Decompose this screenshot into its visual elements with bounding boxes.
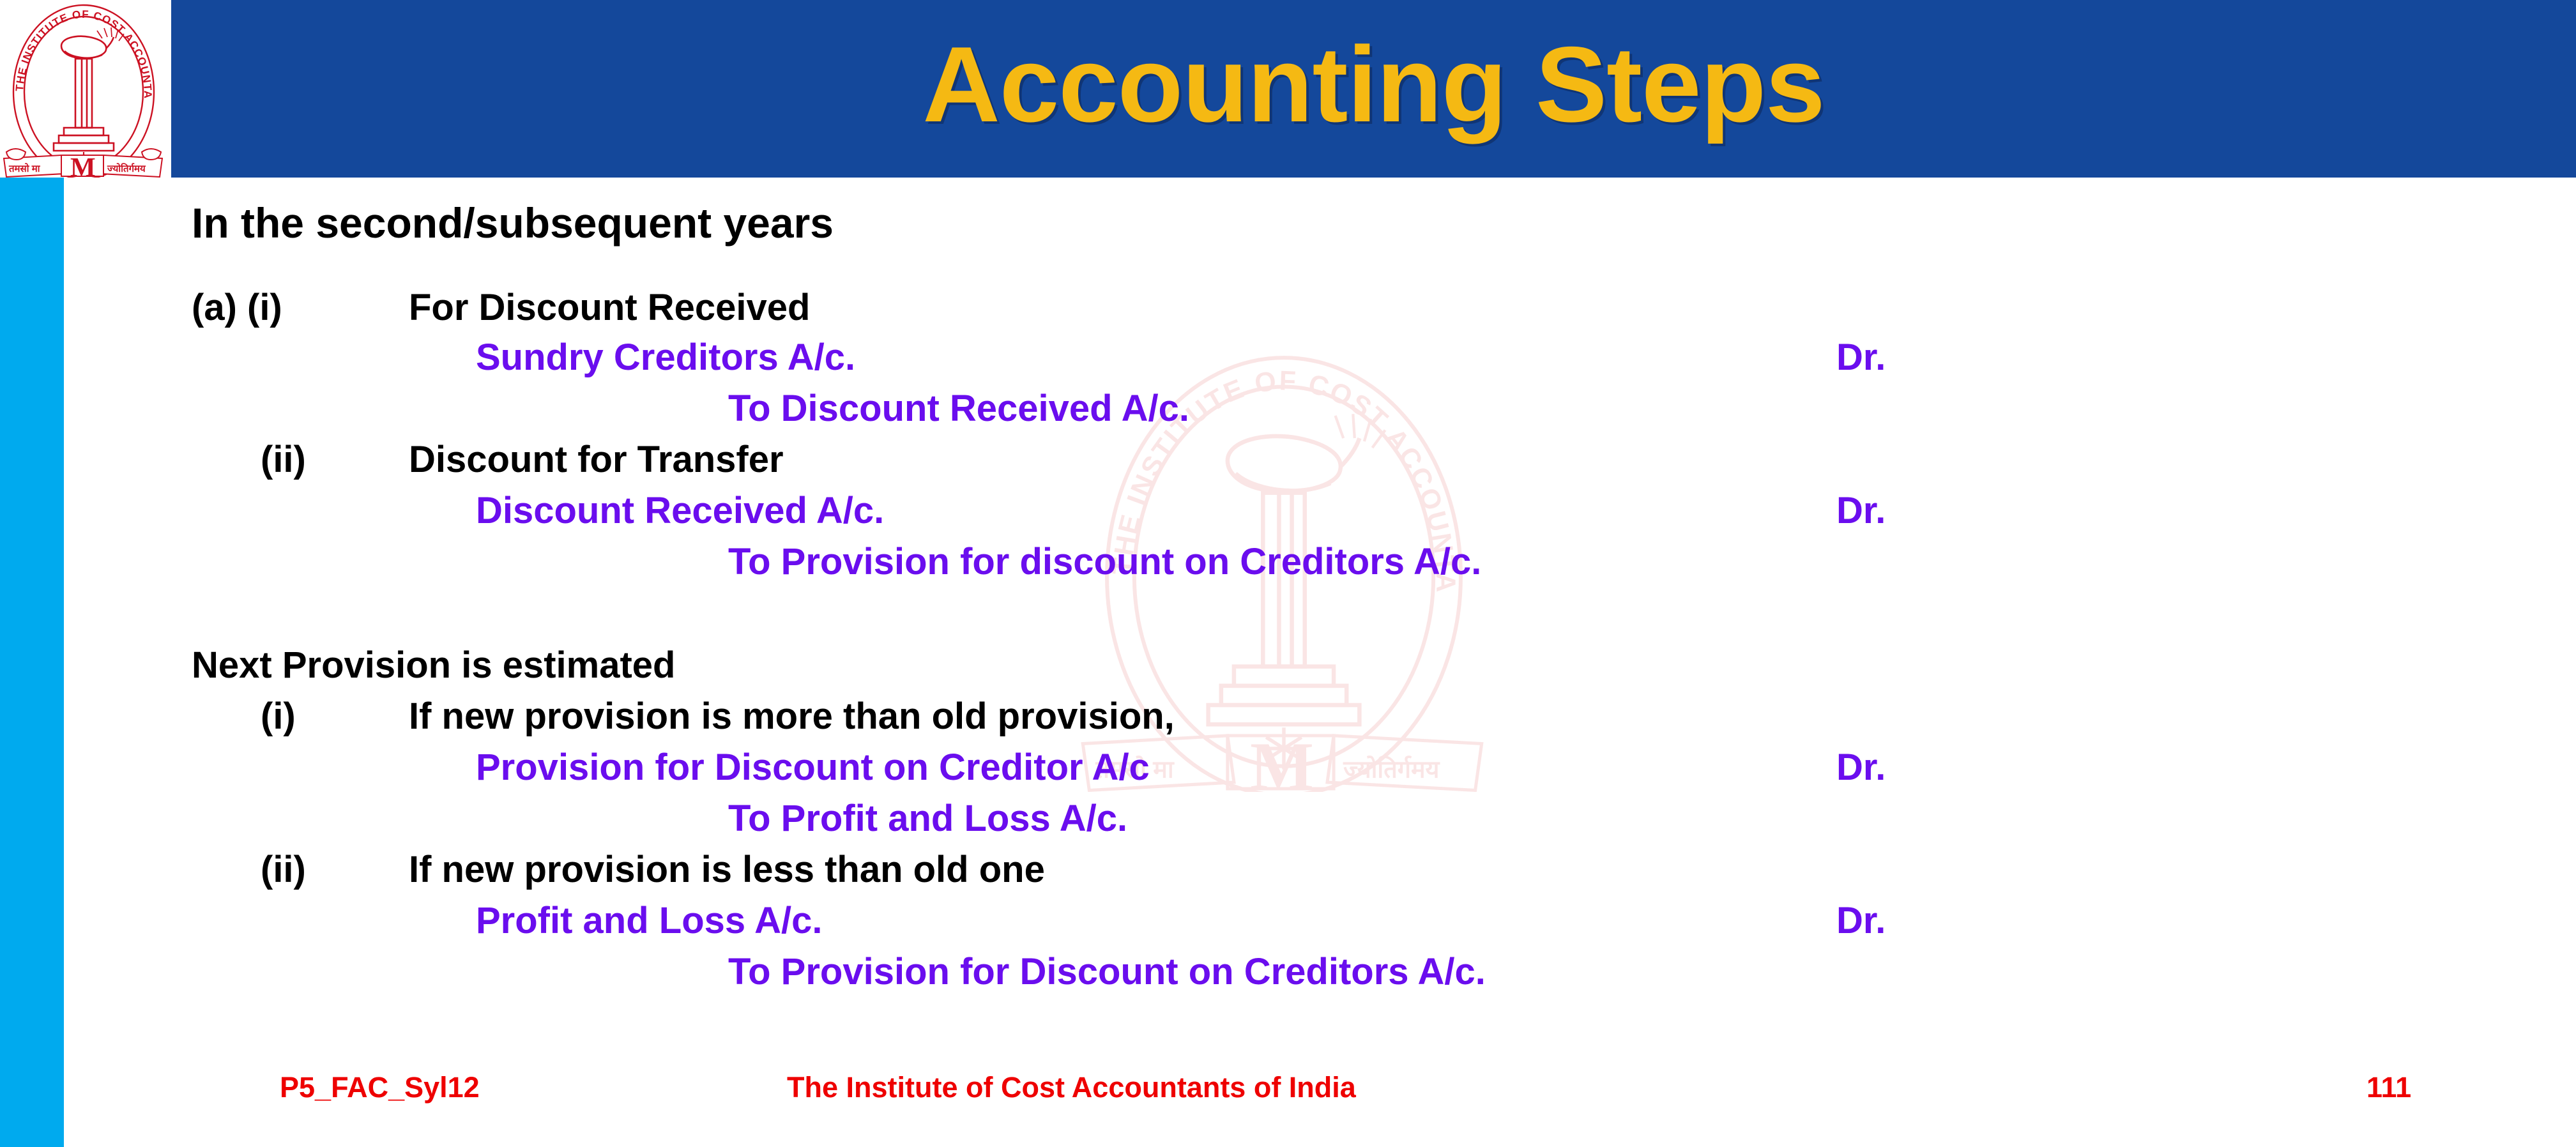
icai-logo: THE INSTITUTE OF COST ACCOUNTANTS OF IND… xyxy=(0,0,167,178)
svg-text:M: M xyxy=(70,153,96,178)
list-item: If new provision is more than old provis… xyxy=(409,698,1175,735)
dr-label: Dr. xyxy=(1836,902,1886,939)
footer: P5_FAC_Syl12 The Institute of Cost Accou… xyxy=(0,1052,2576,1147)
journal-entry-debit: Provision for Discount on Creditor A/c xyxy=(476,749,1150,786)
journal-entry-credit: To Discount Received A/c. xyxy=(728,390,1189,427)
footer-page-number: 111 xyxy=(2366,1073,2411,1102)
svg-text:तमसो मा: तमसो मा xyxy=(8,163,41,174)
footer-institute-name: The Institute of Cost Accountants of Ind… xyxy=(787,1073,1356,1102)
journal-entry-credit: To Profit and Loss A/c. xyxy=(728,800,1127,837)
footer-subject-code: P5_FAC_Syl12 xyxy=(280,1073,480,1102)
list-item: For Discount Received xyxy=(409,289,810,326)
svg-text:ज्योतिर्गमय: ज्योतिर्गमय xyxy=(107,163,146,174)
list-marker: (ii) xyxy=(261,851,306,888)
list-item: If new provision is less than old one xyxy=(409,851,1045,888)
slide-content: In the second/subsequent years (a) (i) F… xyxy=(0,178,2576,1052)
journal-entry-debit: Sundry Creditors A/c. xyxy=(476,339,855,376)
list-item: Discount for Transfer xyxy=(409,441,784,478)
journal-entry-debit: Profit and Loss A/c. xyxy=(476,902,822,939)
list-marker: (a) (i) xyxy=(192,289,282,326)
section-heading-1: In the second/subsequent years xyxy=(192,202,834,244)
page-title: Accounting Steps xyxy=(171,0,2576,178)
journal-entry-debit: Discount Received A/c. xyxy=(476,492,884,529)
list-marker: (ii) xyxy=(261,441,306,478)
journal-entry-credit: To Provision for Discount on Creditors A… xyxy=(728,953,1486,991)
journal-entry-credit: To Provision for discount on Creditors A… xyxy=(728,543,1481,581)
section-heading-2: Next Provision is estimated xyxy=(192,647,675,684)
dr-label: Dr. xyxy=(1836,492,1886,529)
list-marker: (i) xyxy=(261,698,296,735)
dr-label: Dr. xyxy=(1836,339,1886,376)
dr-label: Dr. xyxy=(1836,749,1886,786)
